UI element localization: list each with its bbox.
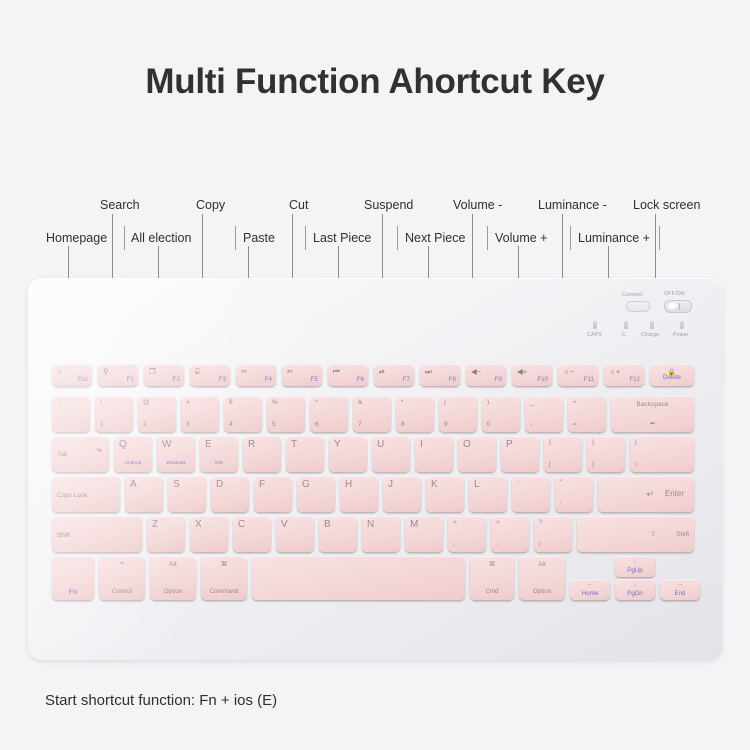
enter-arrow-icon: ↵ <box>646 490 654 499</box>
key-f9-label: F9 <box>495 377 502 383</box>
callout-suspend: Suspend <box>364 198 413 212</box>
keyboard-body: Connect OFF/ON CAPS C Charge Power ⌂ Esc… <box>28 278 722 660</box>
key-f6[interactable]: ⏮ F6 <box>328 364 368 386</box>
key-period[interactable]: > . <box>491 516 529 552</box>
next-track-icon: ⏭ <box>425 368 432 376</box>
callout-luminance-down: Luminance - <box>538 198 607 212</box>
footer-note: Start shortcut function: Fn + ios (E) <box>45 692 277 709</box>
key-1[interactable]: ! 1 <box>95 396 133 432</box>
key-end-label: End <box>660 591 700 597</box>
play-pause-icon: ⏯ <box>379 368 385 376</box>
key-command-right[interactable]: ⌘ Cmd <box>470 556 514 600</box>
key-f9[interactable]: ◀− F9 <box>466 364 506 386</box>
control-caret-icon: ^ <box>99 562 145 569</box>
callout-divider <box>305 226 306 250</box>
key-space[interactable] <box>252 556 465 600</box>
key-y[interactable]: Y <box>329 436 367 472</box>
key-c[interactable]: C <box>233 516 271 552</box>
key-b[interactable]: B <box>319 516 357 552</box>
key-f8-label: F8 <box>449 377 456 383</box>
key-i[interactable]: I <box>415 436 453 472</box>
key-f4[interactable]: ✂ F4 <box>236 364 276 386</box>
callout-divider <box>659 226 660 250</box>
key-f3-label: F3 <box>219 377 226 383</box>
key-backspace[interactable]: Backspace ⬅ <box>611 396 694 432</box>
arrow-down-icon: ↓ <box>615 582 655 589</box>
key-9[interactable]: ( 9 <box>439 396 477 432</box>
key-f1[interactable]: ⚲ F1 <box>98 364 138 386</box>
key-f7[interactable]: ⏯ F7 <box>374 364 414 386</box>
key-caps-lock[interactable]: Caps Lock <box>52 476 120 512</box>
callout-all-election: All election <box>131 231 191 245</box>
search-icon: ⚲ <box>103 368 109 376</box>
key-arrow-down[interactable]: ↓ PgDn <box>615 579 655 600</box>
key-g[interactable]: G <box>297 476 335 512</box>
home-icon: ⌂ <box>57 368 62 376</box>
key-pgdn-label: PgDn <box>615 591 655 597</box>
key-q-os-label: Android <box>114 462 152 467</box>
scissors-icon: ✄ <box>287 368 293 376</box>
key-quote[interactable]: " ' <box>555 476 593 512</box>
key-control[interactable]: ^ Control <box>99 556 145 600</box>
volume-down-icon: ◀− <box>471 368 481 376</box>
key-z[interactable]: Z <box>147 516 185 552</box>
key-q[interactable]: Q Android <box>114 436 152 472</box>
key-u[interactable]: U <box>372 436 410 472</box>
key-fn[interactable]: Fn <box>52 556 94 600</box>
key-f12[interactable]: ☼+ F12 <box>604 364 644 386</box>
key-f10-label: F10 <box>537 377 548 383</box>
key-backtick[interactable]: ~ ` <box>52 396 90 432</box>
key-arrow-right[interactable]: → End <box>660 579 700 600</box>
key-delete[interactable]: 🔒 Delete <box>650 364 694 386</box>
key-n[interactable]: N <box>362 516 400 552</box>
key-pgup-label: PgUp <box>615 568 655 574</box>
key-esc[interactable]: ⌂ Esc <box>52 364 92 386</box>
backspace-arrow-icon: ⬅ <box>611 421 694 427</box>
shift-arrow-icon: ⇧ <box>651 532 656 538</box>
brightness-up-icon: ☼+ <box>609 368 620 376</box>
key-f1-label: F1 <box>127 377 134 383</box>
callout-volume-down: Volume - <box>453 198 502 212</box>
callout-divider <box>235 226 236 250</box>
key-7[interactable]: & 7 <box>353 396 391 432</box>
key-j[interactable]: J <box>383 476 421 512</box>
callout-paste: Paste <box>243 231 275 245</box>
previous-track-icon: ⏮ <box>333 368 340 376</box>
key-f12-label: F12 <box>629 377 640 383</box>
callout-last-piece: Last Piece <box>313 231 371 245</box>
key-d[interactable]: D <box>211 476 249 512</box>
key-w-os-label: Windows <box>157 462 195 467</box>
key-r[interactable]: R <box>243 436 281 472</box>
key-backslash[interactable]: | \ <box>630 436 694 472</box>
key-x[interactable]: X <box>190 516 228 552</box>
key-shift-right-label: Shift <box>676 532 689 538</box>
key-semicolon[interactable]: : ; <box>512 476 550 512</box>
key-equals[interactable]: + = <box>568 396 606 432</box>
key-enter-label: Enter <box>665 490 684 498</box>
callout-divider <box>397 226 398 250</box>
arrow-up-icon: ↑ <box>615 559 655 566</box>
key-f11[interactable]: ☼− F11 <box>558 364 598 386</box>
key-arrow-left[interactable]: ← Home <box>570 579 610 600</box>
key-4[interactable]: $ 4 <box>224 396 262 432</box>
key-f[interactable]: F <box>254 476 292 512</box>
key-e[interactable]: E iOS <box>200 436 238 472</box>
key-grid: ⌂ Esc ⚲ F1 ❐ F2 ⌸ F3 ✂ F4 ✄ F5 ⏮ F6 ⏯ F7 <box>28 278 722 660</box>
key-option-right[interactable]: Alt Option <box>519 556 565 600</box>
key-f6-label: F6 <box>357 377 364 383</box>
key-l[interactable]: L <box>469 476 507 512</box>
command-icon: ⌘ <box>201 562 247 569</box>
volume-up-icon: ◀+ <box>517 368 527 376</box>
key-f7-label: F7 <box>403 377 410 383</box>
callout-divider <box>124 226 125 250</box>
key-5[interactable]: % 5 <box>267 396 305 432</box>
key-command-left[interactable]: ⌘ Command <box>201 556 247 600</box>
key-option-left[interactable]: Alt Option <box>150 556 196 600</box>
key-f8[interactable]: ⏭ F8 <box>420 364 460 386</box>
key-bracket-right[interactable]: } ] <box>587 436 625 472</box>
key-f2[interactable]: ❐ F2 <box>144 364 184 386</box>
arrow-right-icon: → <box>660 582 700 589</box>
tab-arrows-icon: ⇆ <box>97 448 102 454</box>
callout-copy: Copy <box>196 198 225 212</box>
key-f10[interactable]: ◀+ F10 <box>512 364 552 386</box>
arrow-left-icon: ← <box>570 582 610 589</box>
callout-lock-screen: Lock screen <box>633 198 700 212</box>
key-arrow-up[interactable]: ↑ PgUp <box>615 556 655 577</box>
key-f3[interactable]: ⌸ F3 <box>190 364 230 386</box>
key-3[interactable]: # 3 <box>181 396 219 432</box>
callout-volume-up: Volume + <box>495 231 547 245</box>
key-f2-label: F2 <box>173 377 180 383</box>
key-w[interactable]: W Windows <box>157 436 195 472</box>
key-f11-label: F11 <box>584 377 594 383</box>
key-e-os-label: iOS <box>200 462 238 467</box>
copy-icon: ❐ <box>149 368 156 376</box>
key-shift-right[interactable]: Shift ⇧ <box>577 516 694 552</box>
paste-icon: ⌸ <box>195 368 200 376</box>
key-s[interactable]: S <box>168 476 206 512</box>
callout-luminance-up: Luminance + <box>578 231 650 245</box>
key-minus[interactable]: _ - <box>525 396 563 432</box>
key-a[interactable]: A <box>125 476 163 512</box>
key-0[interactable]: ) 0 <box>482 396 520 432</box>
key-p[interactable]: P <box>501 436 539 472</box>
key-tab[interactable]: Tab ⇆ <box>52 436 109 472</box>
cut-icon: ✂ <box>241 368 247 376</box>
callout-cut: Cut <box>289 198 308 212</box>
callout-divider <box>570 226 571 250</box>
key-f4-label: F4 <box>265 377 272 383</box>
command-icon: ⌘ <box>470 562 514 569</box>
key-bracket-left[interactable]: { [ <box>544 436 582 472</box>
key-m[interactable]: M <box>405 516 443 552</box>
key-o[interactable]: O <box>458 436 496 472</box>
key-comma[interactable]: < , <box>448 516 486 552</box>
key-t[interactable]: T <box>286 436 324 472</box>
key-f5-label: F5 <box>311 377 318 383</box>
key-shift-left-label: Shift <box>57 533 70 539</box>
key-f5[interactable]: ✄ F5 <box>282 364 322 386</box>
key-8[interactable]: * 8 <box>396 396 434 432</box>
key-6[interactable]: ^ 6 <box>310 396 348 432</box>
callout-homepage: Homepage <box>46 231 107 245</box>
key-2[interactable]: @ 2 <box>138 396 176 432</box>
key-h[interactable]: H <box>340 476 378 512</box>
key-v[interactable]: V <box>276 516 314 552</box>
key-k[interactable]: K <box>426 476 464 512</box>
key-slash[interactable]: ? / <box>534 516 572 552</box>
callout-search: Search <box>100 198 140 212</box>
key-shift-left[interactable]: Shift <box>52 516 142 552</box>
callout-divider <box>487 226 488 250</box>
key-esc-label: Esc <box>78 377 88 383</box>
key-delete-label: Delete <box>650 375 694 381</box>
callout-next-piece: Next Piece <box>405 231 465 245</box>
key-enter[interactable]: Enter ↵ <box>598 476 694 512</box>
key-home-label: Home <box>570 591 610 597</box>
brightness-down-icon: ☼− <box>563 368 574 376</box>
